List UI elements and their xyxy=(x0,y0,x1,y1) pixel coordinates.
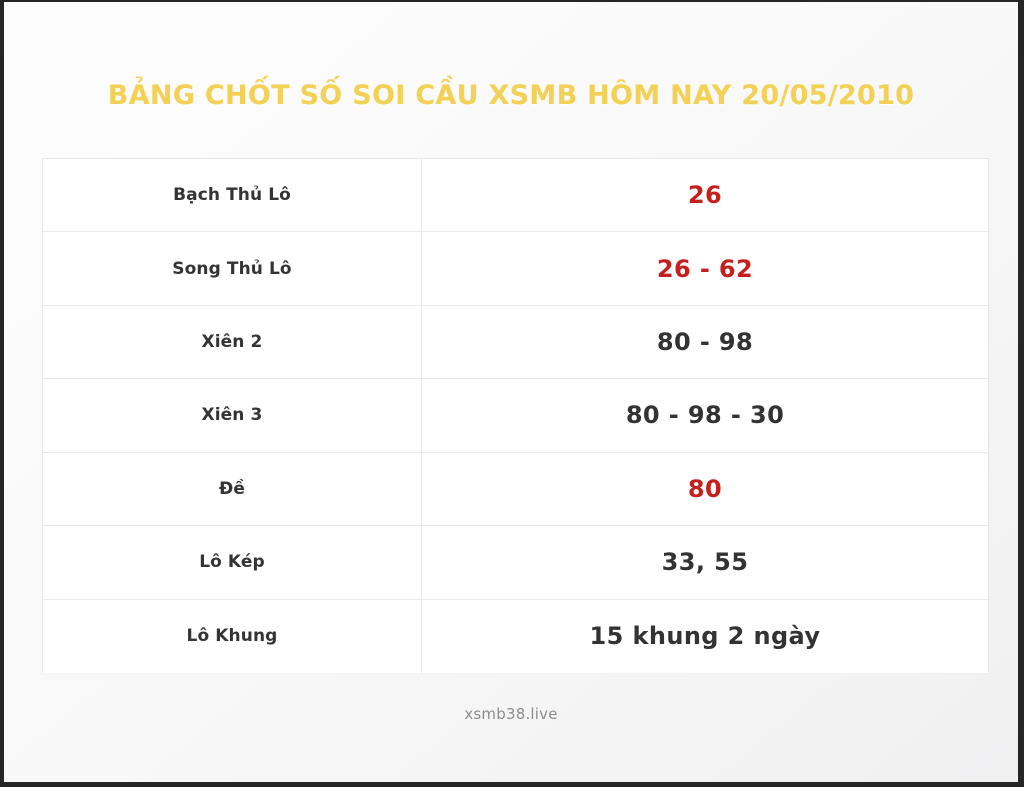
table-row: Xiên 380 - 98 - 30 xyxy=(43,379,988,452)
table-row: Lô Kép33, 55 xyxy=(43,526,988,599)
row-value: 26 - 62 xyxy=(422,232,988,304)
row-label: Lô Khung xyxy=(43,600,422,673)
row-value: 15 khung 2 ngày xyxy=(422,600,988,673)
table-row: Bạch Thủ Lô26 xyxy=(43,159,988,232)
row-label: Xiên 3 xyxy=(43,379,422,451)
screenshot-canvas: BẢNG CHỐT SỐ SOI CẦU XSMB HÔM NAY 20/05/… xyxy=(0,0,1024,787)
page-title: BẢNG CHỐT SỐ SOI CẦU XSMB HÔM NAY 20/05/… xyxy=(4,80,1018,111)
row-value: 80 xyxy=(422,453,988,525)
table-row: Lô Khung15 khung 2 ngày xyxy=(43,600,988,673)
table-row: Song Thủ Lô26 - 62 xyxy=(43,232,988,305)
row-label: Xiên 2 xyxy=(43,306,422,378)
row-label: Bạch Thủ Lô xyxy=(43,159,422,231)
row-value: 80 - 98 - 30 xyxy=(422,379,988,451)
row-label: Song Thủ Lô xyxy=(43,232,422,304)
table-row: Xiên 280 - 98 xyxy=(43,306,988,379)
prediction-table: Bạch Thủ Lô26Song Thủ Lô26 - 62Xiên 280 … xyxy=(42,158,989,672)
table-row: Đề80 xyxy=(43,453,988,526)
site-watermark: xsmb38.live xyxy=(4,705,1018,723)
row-value: 33, 55 xyxy=(422,526,988,598)
row-value: 26 xyxy=(422,159,988,231)
row-label: Lô Kép xyxy=(43,526,422,598)
row-label: Đề xyxy=(43,453,422,525)
row-value: 80 - 98 xyxy=(422,306,988,378)
